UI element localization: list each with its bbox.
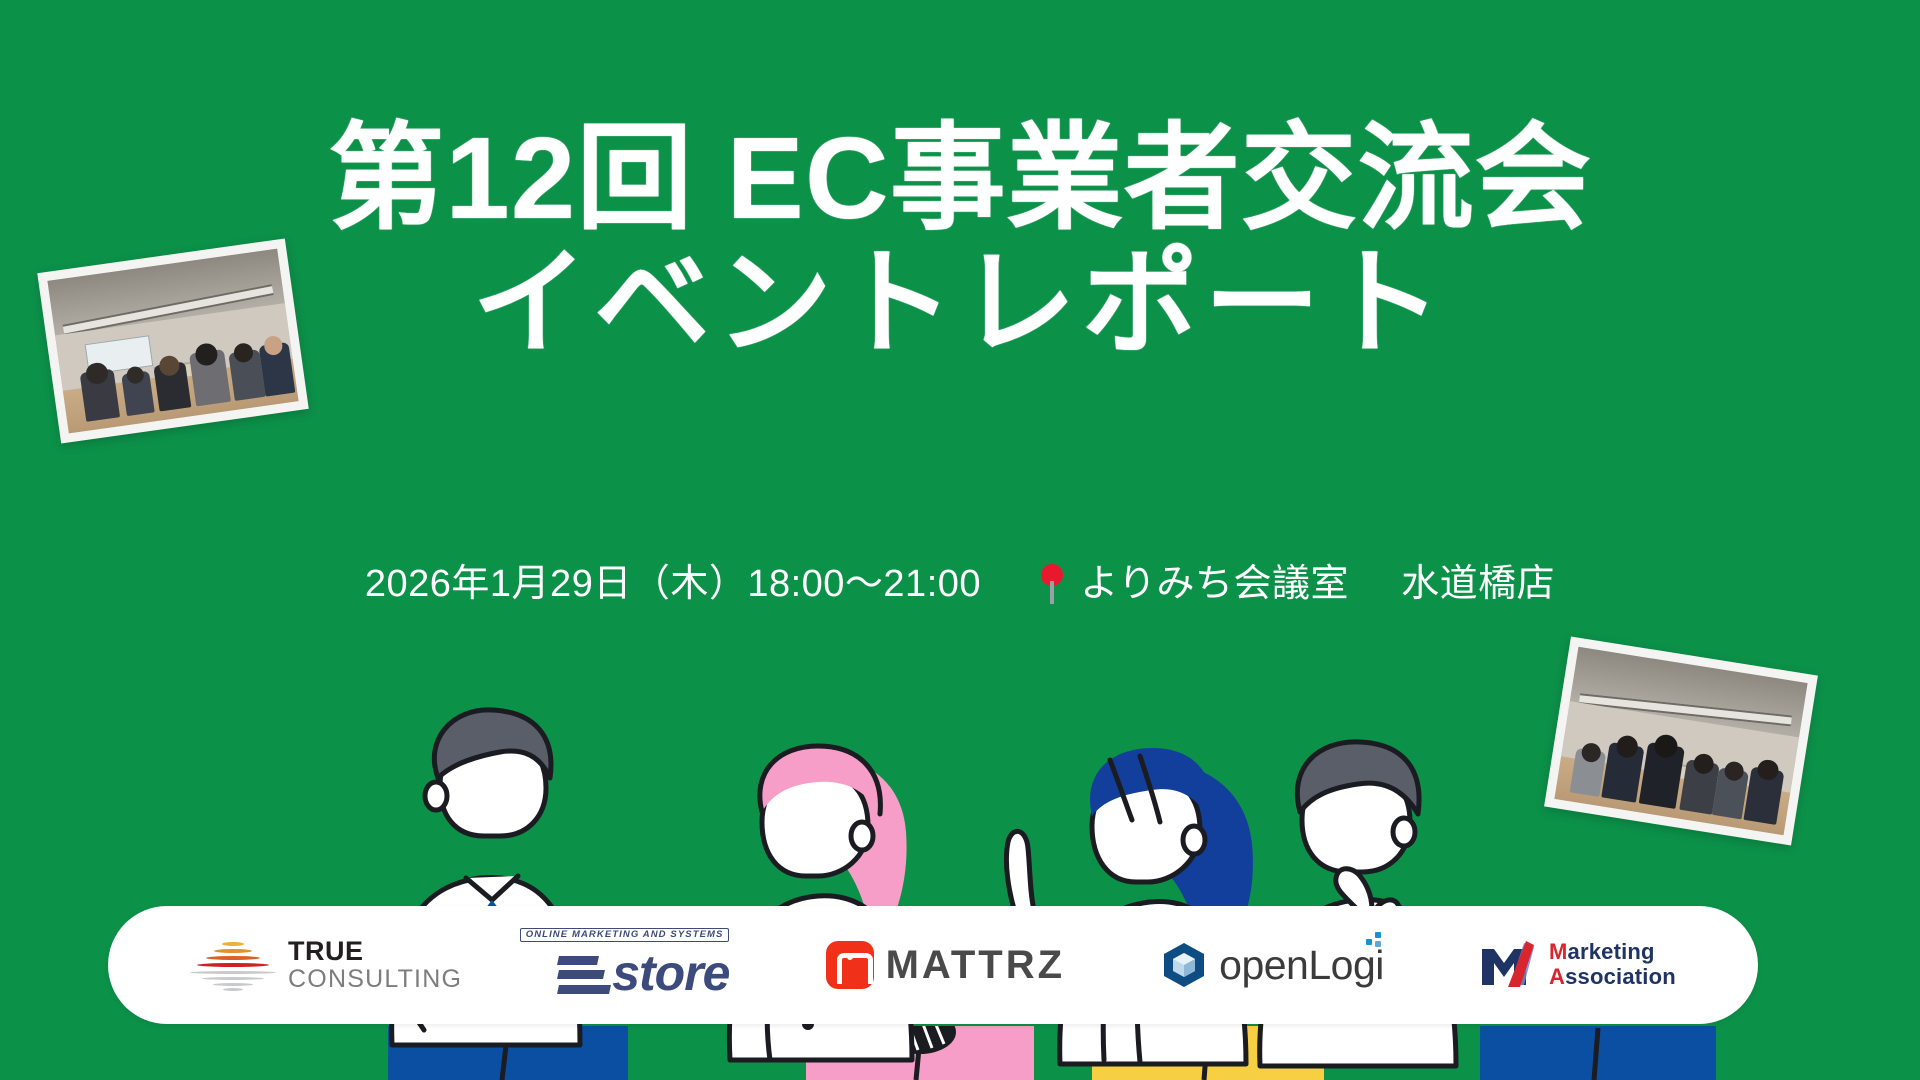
event-photo-left [37, 238, 309, 443]
sponsor-logo-mattrz[interactable]: MATTRZ [826, 906, 1065, 1024]
accent-dots-icon [1366, 932, 1386, 952]
estore-tagline: ONLINE MARKETING AND SYSTEMS [520, 928, 730, 942]
event-meta: 2026年1月29日（木）18:00〜21:00 よりみち会議室 水道橋店 [0, 552, 1920, 607]
sponsor-logo-true-consulting[interactable]: TRUE CONSULTING [190, 906, 462, 1024]
e-bars-icon [558, 952, 610, 998]
true-consulting-line-1: TRUE [288, 938, 462, 965]
estore-wordmark: store [612, 948, 729, 998]
mattrz-wordmark: MATTRZ [886, 943, 1065, 988]
sponsor-logo-bar: TRUE CONSULTING ONLINE MARKETING AND SYS… [108, 906, 1758, 1024]
arc-stack-icon [190, 938, 276, 992]
cube-icon [1161, 941, 1207, 989]
sponsor-logo-estore[interactable]: ONLINE MARKETING AND SYSTEMS store [558, 906, 729, 1024]
ma-line-2: Association [1549, 965, 1676, 990]
map-pin-icon [1041, 564, 1063, 604]
ma-line-1: Marketing [1549, 940, 1676, 965]
ma-monogram-icon [1480, 939, 1538, 991]
sponsor-logo-openlogi[interactable]: openLogi [1161, 906, 1384, 1024]
title-line-1: 第12回 EC事業者交流会 [0, 118, 1920, 239]
event-venue-branch: 水道橋店 [1401, 563, 1555, 605]
sponsor-logo-marketing-association[interactable]: Marketing Association [1480, 906, 1676, 1024]
openlogi-wordmark: openLogi [1219, 942, 1384, 989]
true-consulting-line-2: CONSULTING [288, 967, 462, 992]
event-date: 2026年1月29日（木）18:00〜21:00 [365, 563, 981, 605]
m-rounded-square-icon [826, 941, 874, 989]
event-report-banner: 第12回 EC事業者交流会 イベントレポート 2026年1月29日（木）18:0… [0, 0, 1920, 1080]
event-venue-name: よりみち会議室 [1080, 563, 1349, 605]
